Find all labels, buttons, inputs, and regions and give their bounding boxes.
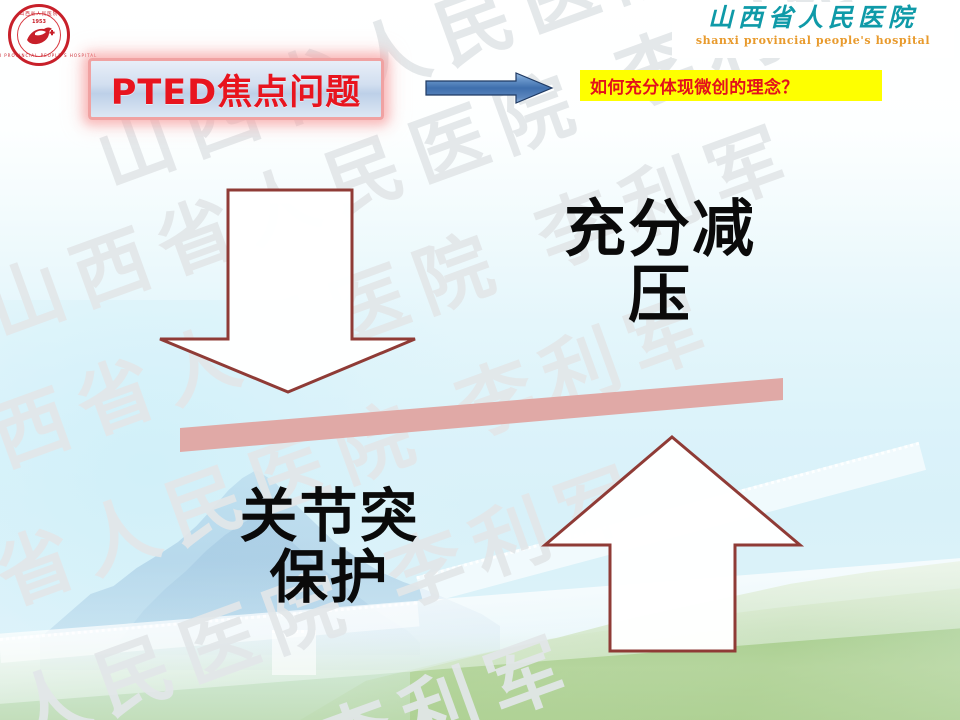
seal-ring-bottom-text: SHANXI PROVINCIAL PEOPLE'S HOSPITAL <box>0 53 97 58</box>
label-facet-protection-line2: 保护 <box>222 547 437 608</box>
hospital-seal-logo: 山西省人民医院 1953 SHANXI PROVINCIAL PEOPLE'S … <box>8 4 70 66</box>
label-decompression-line1: 充分减 <box>564 192 756 265</box>
hospital-wordmark: 山西省人民医院 shanxi provincial people's hospi… <box>672 2 954 58</box>
question-banner: 如何充分体现微创的理念？ <box>580 70 882 101</box>
dove-icon <box>22 23 56 49</box>
seal-ring-top-text: 山西省人民医院 <box>20 11 59 17</box>
wordmark-english: shanxi provincial people's hospital <box>672 34 954 48</box>
label-facet-protection-line1: 关节突 <box>239 482 419 550</box>
page-title: PTED焦点问题 <box>111 64 362 115</box>
presentation-slide: 山西省人民医院 李利军 山西省人民医院 李利军 山西省人民医院 李利军 山西省人… <box>0 0 960 720</box>
background-great-wall-tower <box>272 630 316 675</box>
label-decompression-line2: 压 <box>545 262 775 328</box>
label-facet-protection: 关节突 保护 <box>222 486 437 609</box>
wordmark-chinese: 山西省人民医院 <box>672 2 954 34</box>
label-decompression: 充分减 压 <box>545 196 775 327</box>
right-arrow-icon <box>424 72 554 104</box>
slide-title-plate: PTED焦点问题 <box>88 58 384 120</box>
question-banner-text: 如何充分体现微创的理念？ <box>590 73 799 98</box>
